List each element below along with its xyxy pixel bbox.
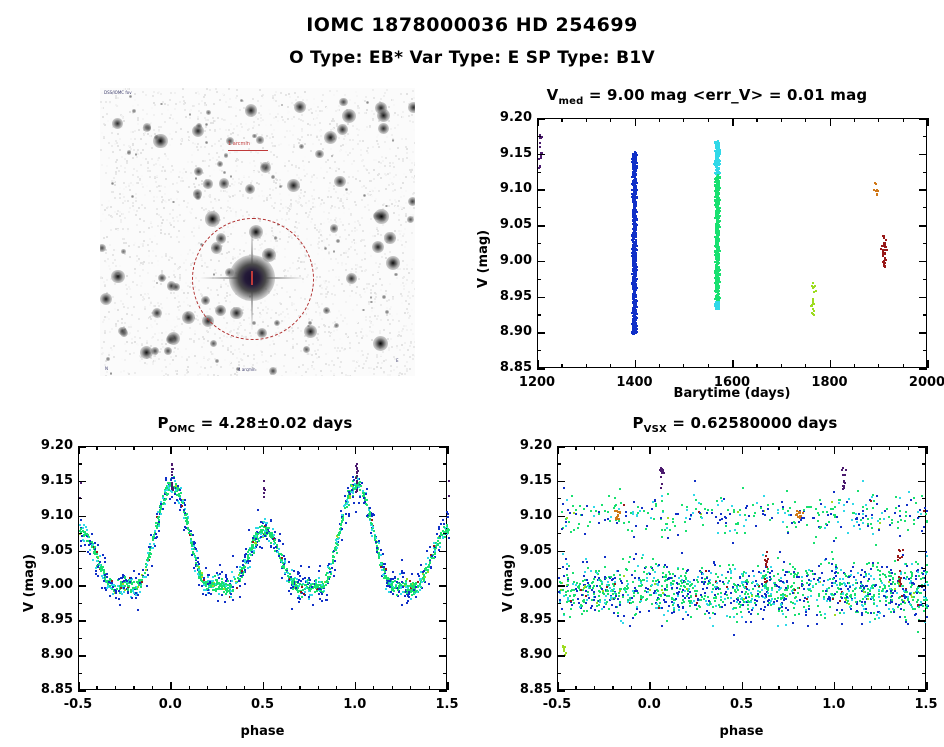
sky-noise-pixel <box>115 173 117 175</box>
sky-noise-pixel <box>105 218 107 220</box>
sky-noise-pixel <box>402 111 404 113</box>
sky-noise-pixel <box>345 143 347 145</box>
sky-noise-pixel <box>339 150 341 152</box>
sky-noise-pixel <box>124 200 126 202</box>
data-point <box>163 502 165 504</box>
sky-noise-pixel <box>114 308 116 310</box>
sky-noise-pixel <box>373 368 375 370</box>
data-point <box>308 566 310 568</box>
sky-noise-pixel <box>319 314 321 316</box>
sky-noise-pixel <box>160 126 162 128</box>
sky-noise-pixel <box>198 93 200 95</box>
sky-noise-pixel <box>138 246 140 248</box>
data-point <box>634 331 636 333</box>
sky-noise-pixel <box>142 157 144 159</box>
finder-annotation-bar <box>228 150 268 151</box>
field-star <box>366 101 369 104</box>
sky-noise-pixel <box>220 366 222 368</box>
sky-noise-pixel <box>234 349 236 351</box>
sky-noise-pixel <box>360 154 362 156</box>
sky-noise-pixel <box>166 219 168 221</box>
sky-noise-pixel <box>374 292 376 294</box>
sky-noise-pixel <box>110 118 112 120</box>
sky-noise-pixel <box>158 157 160 159</box>
sky-noise-pixel <box>191 208 193 210</box>
sky-noise-pixel <box>272 145 274 147</box>
sky-noise-pixel <box>344 94 346 96</box>
sky-noise-pixel <box>126 275 128 277</box>
sky-noise-pixel <box>211 145 213 147</box>
sky-noise-pixel <box>389 283 391 285</box>
sky-noise-pixel <box>131 342 133 344</box>
data-point <box>633 259 635 261</box>
field-star <box>230 175 232 177</box>
sky-noise-pixel <box>204 104 206 106</box>
sky-noise-pixel <box>222 208 224 210</box>
sky-noise-pixel <box>174 297 176 299</box>
sky-noise-pixel <box>133 149 135 151</box>
sky-noise-pixel <box>403 233 405 235</box>
sky-noise-pixel <box>178 318 180 320</box>
data-point <box>718 254 720 256</box>
sky-noise-pixel <box>291 102 293 104</box>
sky-noise-pixel <box>375 305 377 307</box>
sky-noise-pixel <box>103 341 105 343</box>
sky-noise-pixel <box>161 339 163 341</box>
sky-noise-pixel <box>317 333 319 335</box>
data-point <box>635 255 637 257</box>
sky-noise-pixel <box>133 352 135 354</box>
sky-noise-pixel <box>381 362 383 364</box>
data-point <box>719 153 721 155</box>
sky-noise-pixel <box>188 356 190 358</box>
sky-noise-pixel <box>161 256 163 258</box>
sky-noise-pixel <box>108 200 110 202</box>
sky-noise-pixel <box>121 156 123 158</box>
sky-noise-pixel <box>134 99 136 101</box>
sky-noise-pixel <box>275 360 277 362</box>
sky-noise-pixel <box>120 300 122 302</box>
sky-noise-pixel <box>194 333 196 335</box>
sky-noise-pixel <box>388 299 390 301</box>
sky-noise-pixel <box>400 240 402 242</box>
sky-noise-pixel <box>232 208 234 210</box>
data-point <box>718 187 720 189</box>
sky-noise-pixel <box>205 208 207 210</box>
sky-noise-pixel <box>319 110 321 112</box>
sky-noise-pixel <box>412 90 414 92</box>
data-point <box>632 154 634 156</box>
sky-noise-pixel <box>147 244 149 246</box>
sky-noise-pixel <box>400 93 402 95</box>
sky-noise-pixel <box>401 191 403 193</box>
sky-noise-pixel <box>178 301 180 303</box>
data-point <box>102 554 104 556</box>
sky-noise-pixel <box>355 271 357 273</box>
sky-noise-pixel <box>356 335 358 337</box>
sky-noise-pixel <box>312 202 314 204</box>
sky-noise-pixel <box>370 289 372 291</box>
sky-noise-pixel <box>370 367 372 369</box>
sky-noise-pixel <box>114 302 116 304</box>
sky-noise-pixel <box>185 348 187 350</box>
sky-noise-pixel <box>399 349 401 351</box>
sky-noise-pixel <box>154 235 156 237</box>
sky-noise-pixel <box>175 131 177 133</box>
sky-noise-pixel <box>210 201 212 203</box>
sky-noise-pixel <box>200 219 202 221</box>
sky-noise-pixel <box>125 350 127 352</box>
sky-noise-pixel <box>271 142 273 144</box>
data-point <box>539 165 541 167</box>
sky-noise-pixel <box>356 128 358 130</box>
sky-noise-pixel <box>184 374 186 376</box>
sky-noise-pixel <box>117 229 119 231</box>
sky-noise-pixel <box>402 235 404 237</box>
sky-noise-pixel <box>133 244 135 246</box>
field-star <box>245 184 255 194</box>
data-point <box>717 211 719 213</box>
sky-noise-pixel <box>297 202 299 204</box>
sky-noise-pixel <box>111 132 113 134</box>
sky-noise-pixel <box>126 313 128 315</box>
sky-noise-pixel <box>291 164 293 166</box>
sky-noise-pixel <box>357 143 359 145</box>
data-point <box>633 213 635 215</box>
field-star <box>172 201 175 204</box>
sky-noise-pixel <box>117 145 119 147</box>
data-point <box>298 601 300 603</box>
sky-noise-pixel <box>298 167 300 169</box>
sky-noise-pixel <box>129 353 131 355</box>
sky-noise-pixel <box>113 177 115 179</box>
sky-noise-pixel <box>203 356 205 358</box>
sky-noise-pixel <box>150 302 152 304</box>
sky-noise-pixel <box>411 323 413 325</box>
data-point <box>717 251 719 253</box>
data-point <box>717 169 719 171</box>
sky-noise-pixel <box>329 90 331 92</box>
sky-noise-pixel <box>363 288 365 290</box>
sky-noise-pixel <box>356 304 358 306</box>
finder-label-topleft: DSS/IOMC fov <box>104 90 132 95</box>
sky-noise-pixel <box>338 276 340 278</box>
sky-noise-pixel <box>234 151 236 153</box>
sky-noise-pixel <box>403 268 405 270</box>
sky-noise-pixel <box>318 326 320 328</box>
sky-noise-pixel <box>143 261 145 263</box>
sky-noise-pixel <box>352 309 354 311</box>
data-point <box>877 190 879 192</box>
sky-noise-pixel <box>399 372 401 374</box>
sky-noise-pixel <box>178 309 180 311</box>
sky-noise-pixel <box>344 348 346 350</box>
sky-noise-pixel <box>408 115 410 117</box>
sky-noise-pixel <box>186 206 188 208</box>
sky-noise-pixel <box>389 323 391 325</box>
sky-noise-pixel <box>293 116 295 118</box>
sky-noise-pixel <box>114 283 116 285</box>
sky-noise-pixel <box>375 283 377 285</box>
sky-noise-pixel <box>304 156 306 158</box>
sky-noise-pixel <box>188 251 190 253</box>
sky-noise-pixel <box>193 227 195 229</box>
sky-noise-pixel <box>374 301 376 303</box>
sky-noise-pixel <box>387 173 389 175</box>
sky-noise-pixel <box>375 159 377 161</box>
sky-noise-pixel <box>331 168 333 170</box>
field-star <box>373 336 388 351</box>
sky-noise-pixel <box>204 367 206 369</box>
sky-noise-pixel <box>173 292 175 294</box>
sky-noise-pixel <box>372 274 374 276</box>
sky-noise-pixel <box>335 234 337 236</box>
sky-noise-pixel <box>313 368 315 370</box>
sky-noise-pixel <box>132 90 134 92</box>
sky-noise-pixel <box>395 201 397 203</box>
sky-noise-pixel <box>298 195 300 197</box>
field-star <box>345 188 348 191</box>
sky-noise-pixel <box>238 182 240 184</box>
sky-noise-pixel <box>135 193 137 195</box>
sky-noise-pixel <box>406 268 408 270</box>
sky-noise-pixel <box>214 129 216 131</box>
sky-noise-pixel <box>318 237 320 239</box>
sky-noise-pixel <box>394 189 396 191</box>
sky-noise-pixel <box>174 347 176 349</box>
sky-noise-pixel <box>401 302 403 304</box>
sky-noise-pixel <box>176 198 178 200</box>
sky-noise-pixel <box>368 209 370 211</box>
sky-noise-pixel <box>147 272 149 274</box>
sky-noise-pixel <box>366 169 368 171</box>
sky-noise-pixel <box>161 113 163 115</box>
field-star <box>121 249 125 253</box>
sky-noise-pixel <box>242 344 244 346</box>
sky-noise-pixel <box>185 116 187 118</box>
sky-noise-pixel <box>205 126 207 128</box>
sky-noise-pixel <box>214 333 216 335</box>
sky-noise-pixel <box>187 202 189 204</box>
sky-noise-pixel <box>101 164 103 166</box>
sky-noise-pixel <box>181 177 183 179</box>
sky-noise-pixel <box>224 190 226 192</box>
sky-noise-pixel <box>397 205 399 207</box>
sky-noise-pixel <box>349 295 351 297</box>
page-title: IOMC 1878000036 HD 254699 <box>0 14 944 36</box>
sky-noise-pixel <box>329 182 331 184</box>
sky-noise-pixel <box>356 229 358 231</box>
sky-noise-pixel <box>377 203 379 205</box>
sky-noise-pixel <box>177 191 179 193</box>
sky-noise-pixel <box>241 359 243 361</box>
sky-noise-pixel <box>349 344 351 346</box>
sky-noise-pixel <box>304 143 306 145</box>
sky-noise-pixel <box>257 152 259 154</box>
data-point <box>718 148 720 150</box>
sky-noise-pixel <box>203 209 205 211</box>
sky-noise-pixel <box>170 171 172 173</box>
sky-noise-pixel <box>269 194 271 196</box>
sky-noise-pixel <box>100 220 102 222</box>
sky-noise-pixel <box>365 319 367 321</box>
sky-noise-pixel <box>373 178 375 180</box>
sky-noise-pixel <box>414 341 415 343</box>
sky-noise-pixel <box>133 168 135 170</box>
sky-noise-pixel <box>237 159 239 161</box>
sky-noise-pixel <box>378 173 380 175</box>
sky-noise-pixel <box>316 276 318 278</box>
sky-noise-pixel <box>290 370 292 372</box>
sky-noise-pixel <box>172 169 174 171</box>
sky-noise-pixel <box>309 124 311 126</box>
sky-noise-pixel <box>275 187 277 189</box>
sky-noise-pixel <box>164 103 166 105</box>
sky-noise-pixel <box>281 375 283 376</box>
sky-noise-pixel <box>117 133 119 135</box>
sky-noise-pixel <box>152 336 154 338</box>
sky-noise-pixel <box>333 330 335 332</box>
sky-noise-pixel <box>405 241 407 243</box>
sky-noise-pixel <box>179 305 181 307</box>
sky-noise-pixel <box>168 199 170 201</box>
sky-noise-pixel <box>174 263 176 265</box>
sky-noise-pixel <box>108 354 110 356</box>
sky-noise-pixel <box>191 154 193 156</box>
sky-noise-pixel <box>406 308 408 310</box>
sky-noise-pixel <box>214 198 216 200</box>
sky-noise-pixel <box>121 115 123 117</box>
sky-noise-pixel <box>276 219 278 221</box>
sky-noise-pixel <box>175 103 177 105</box>
sky-noise-pixel <box>237 134 239 136</box>
sky-noise-pixel <box>261 174 263 176</box>
sky-noise-pixel <box>323 177 325 179</box>
sky-noise-pixel <box>287 170 289 172</box>
sky-noise-pixel <box>147 167 149 169</box>
sky-noise-pixel <box>306 228 308 230</box>
sky-noise-pixel <box>320 293 322 295</box>
sky-noise-pixel <box>316 117 318 119</box>
sky-noise-pixel <box>314 263 316 265</box>
sky-noise-pixel <box>139 264 141 266</box>
sky-noise-pixel <box>339 366 341 368</box>
sky-noise-pixel <box>153 102 155 104</box>
sky-noise-pixel <box>278 105 280 107</box>
sky-noise-pixel <box>343 160 345 162</box>
sky-noise-pixel <box>240 123 242 125</box>
sky-noise-pixel <box>392 319 394 321</box>
sky-noise-pixel <box>185 269 187 271</box>
sky-noise-pixel <box>398 208 400 210</box>
sky-noise-pixel <box>409 169 411 171</box>
sky-noise-pixel <box>336 350 338 352</box>
sky-noise-pixel <box>398 200 400 202</box>
sky-noise-pixel <box>408 317 410 319</box>
sky-noise-pixel <box>131 314 133 316</box>
field-star <box>324 131 338 145</box>
sky-noise-pixel <box>119 193 121 195</box>
sky-noise-pixel <box>192 218 194 220</box>
sky-noise-pixel <box>105 252 107 254</box>
sky-noise-pixel <box>338 310 340 312</box>
sky-noise-pixel <box>252 98 254 100</box>
sky-noise-pixel <box>161 332 163 334</box>
sky-noise-pixel <box>102 116 104 118</box>
sky-noise-pixel <box>351 268 353 270</box>
sky-noise-pixel <box>265 124 267 126</box>
sky-noise-pixel <box>212 122 214 124</box>
sky-noise-pixel <box>317 129 319 131</box>
sky-noise-pixel <box>214 143 216 145</box>
sky-noise-pixel <box>122 193 124 195</box>
sky-noise-pixel <box>109 101 111 103</box>
sky-noise-pixel <box>369 330 371 332</box>
sky-noise-pixel <box>241 161 243 163</box>
sky-noise-pixel <box>321 318 323 320</box>
sky-noise-pixel <box>213 103 215 105</box>
field-star <box>189 113 191 115</box>
data-point <box>716 260 718 262</box>
sky-noise-pixel <box>380 367 382 369</box>
sky-noise-pixel <box>253 121 255 123</box>
sky-noise-pixel <box>336 90 338 92</box>
sky-noise-pixel <box>356 253 358 255</box>
sky-noise-pixel <box>404 365 406 367</box>
sky-noise-pixel <box>366 150 368 152</box>
sky-noise-pixel <box>235 170 237 172</box>
sky-noise-pixel <box>347 154 349 156</box>
sky-noise-pixel <box>406 370 408 372</box>
sky-noise-pixel <box>367 147 369 149</box>
sky-noise-pixel <box>373 97 375 99</box>
sky-noise-pixel <box>355 91 357 93</box>
sky-noise-pixel <box>354 201 356 203</box>
sky-noise-pixel <box>233 184 235 186</box>
field-star <box>205 123 208 126</box>
data-point <box>635 312 637 314</box>
sky-noise-pixel <box>293 125 295 127</box>
sky-noise-pixel <box>229 98 231 100</box>
sky-noise-pixel <box>136 284 138 286</box>
data-point <box>632 241 634 243</box>
sky-noise-pixel <box>114 197 116 199</box>
sky-noise-pixel <box>359 180 361 182</box>
sky-noise-pixel <box>181 356 183 358</box>
sky-noise-pixel <box>185 282 187 284</box>
sky-noise-pixel <box>137 330 139 332</box>
sky-noise-pixel <box>284 354 286 356</box>
sky-noise-pixel <box>355 204 357 206</box>
data-point <box>718 201 720 203</box>
sky-noise-pixel <box>321 100 323 102</box>
sky-noise-pixel <box>398 158 400 160</box>
sky-noise-pixel <box>253 358 255 360</box>
sky-noise-pixel <box>132 205 134 207</box>
data-point <box>257 509 259 511</box>
sky-noise-pixel <box>200 146 202 148</box>
sky-noise-pixel <box>310 134 312 136</box>
sky-noise-pixel <box>373 159 375 161</box>
sky-noise-pixel <box>378 161 380 163</box>
sky-noise-pixel <box>349 152 351 154</box>
data-point <box>373 530 375 532</box>
sky-noise-pixel <box>228 88 230 90</box>
sky-noise-pixel <box>261 351 263 353</box>
sky-noise-pixel <box>132 202 134 204</box>
field-star <box>408 102 415 113</box>
data-point <box>410 598 412 600</box>
